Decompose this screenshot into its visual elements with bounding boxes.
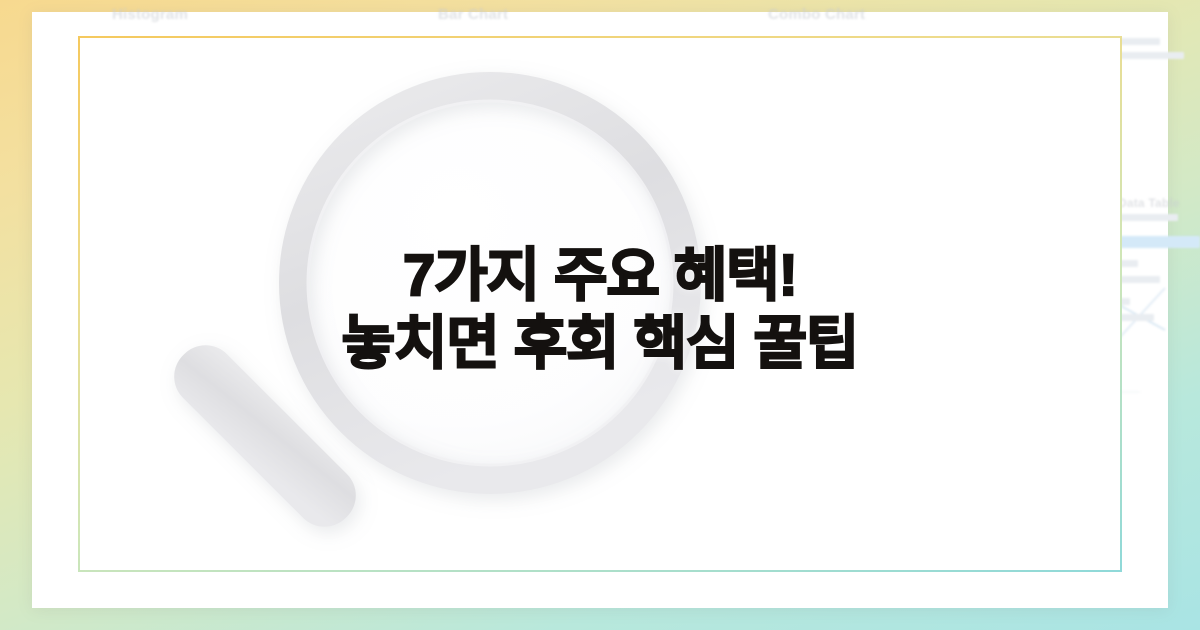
bar-chart-bar — [440, 106, 474, 120]
table-header-cell — [1108, 214, 1178, 221]
histogram-bar — [406, 127, 428, 183]
poster-canvas: Histogram Bar Chart Combo Chart Area Cha… — [0, 0, 1200, 630]
bar-chart-bar — [440, 88, 628, 102]
axis-line — [772, 169, 1068, 170]
panel-title-line-chart: Line Chart — [768, 200, 844, 217]
panel-title-area-chart: Area Chart — [112, 200, 191, 217]
panel-title-bar-chart: Bar Chart — [438, 6, 508, 23]
histogram-bar — [251, 131, 276, 183]
bar-chart-plot — [440, 48, 700, 158]
page-title: 7가지 주요 혜택! 놓치면 후회 핵심 꿀팁 — [0, 242, 1200, 378]
histogram-bar — [340, 157, 362, 183]
panel-title-data-table: Data Table — [1118, 196, 1180, 210]
bar-chart-bar — [440, 66, 520, 80]
histogram-bar — [170, 153, 195, 183]
headline-line-2: 놓치면 후회 핵심 꿀팁 — [0, 310, 1200, 378]
histogram-bar — [116, 113, 141, 183]
histogram-bar — [278, 107, 303, 183]
histogram-overflow-bars — [382, 145, 432, 183]
histogram-bar — [382, 168, 404, 183]
table-cell — [1100, 38, 1160, 45]
panel-title-stacked-area-chart: Stacked Area Chart — [438, 200, 579, 217]
misc-panel — [1100, 34, 1200, 64]
table-cell — [1100, 52, 1184, 59]
histogram-plot — [112, 38, 392, 183]
histogram-bar — [224, 48, 249, 183]
histogram-bar — [143, 78, 168, 183]
combo-overlay-line — [772, 58, 1072, 168]
headline-line-1: 7가지 주요 혜택! — [0, 242, 1200, 310]
combo-chart-plot — [772, 58, 1072, 168]
panel-title-histogram: Histogram — [112, 6, 188, 23]
panel-title-combo-chart: Combo Chart — [768, 6, 865, 23]
bar-chart-bar — [440, 48, 602, 62]
histogram-bar — [197, 75, 222, 183]
